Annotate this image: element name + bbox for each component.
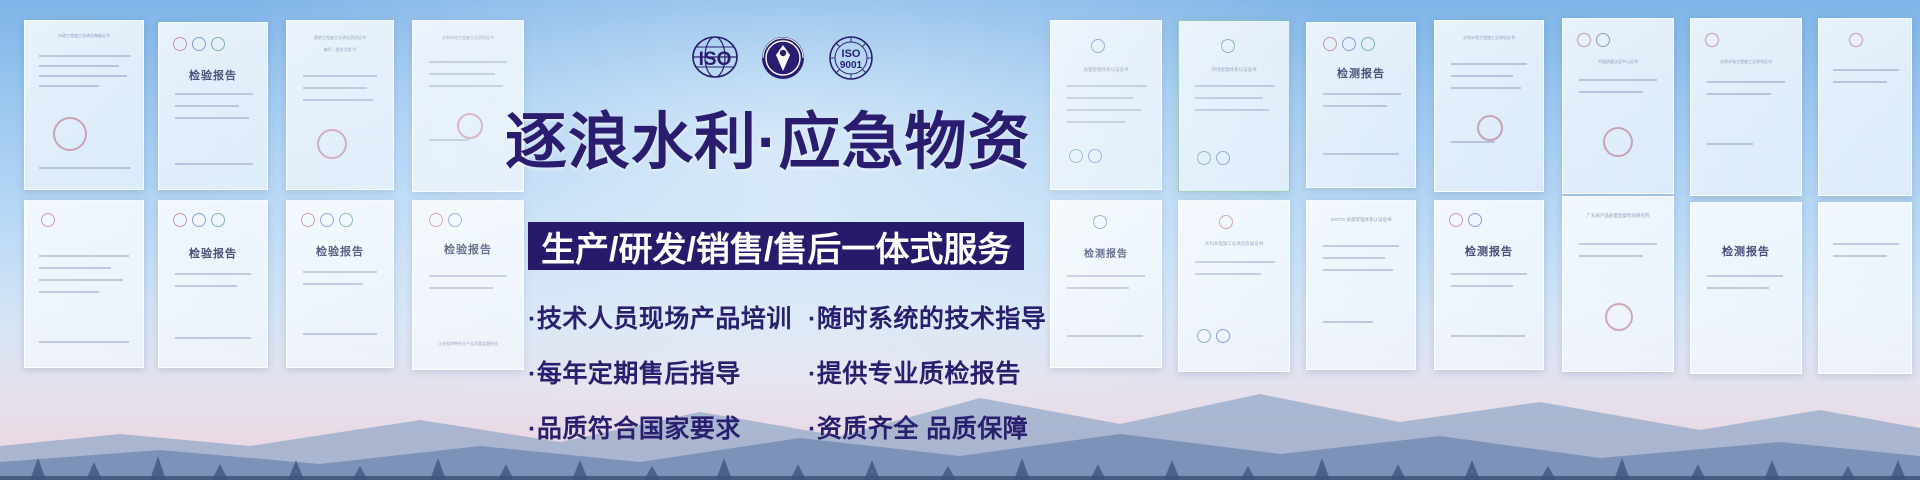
feature-item: ·每年定期售后指导 (528, 360, 741, 388)
certificate-accreditation-logos (1197, 151, 1230, 165)
svg-text:ISO: ISO (842, 48, 861, 60)
promo-banner: 市政工程施工总承包叁级证书 检验报告 建筑工程施工总承包资质证书 编号：建总字第… (0, 0, 1920, 480)
certificate-thumbnail: 检验报告 江苏省特种作业产品质量监督检验 (412, 200, 524, 370)
certificate-micro-text: 环境管理体系认证证书 (1179, 67, 1289, 73)
certificate-logo-row (1219, 215, 1233, 229)
certificate-thumbnail: 水利水电工程施工总承包证书 (1690, 18, 1802, 196)
certificate-thumbnail: 质量管理体系认证证书 (1050, 20, 1162, 190)
certificate-thumbnail: 水利水电施工总承包资质证书 (1178, 200, 1290, 372)
certificate-micro-text: 市政工程施工总承包叁级证书 (25, 33, 143, 39)
certificate-micro-text: 水利水电工程施工总承包证书 (1691, 59, 1801, 65)
certificate-thumbnail: 市政工程施工总承包叁级证书 (24, 20, 144, 190)
certificate-thumbnail (1818, 202, 1912, 374)
feature-row: ·技术人员现场产品培训 ·随时系统的技术指导 (528, 289, 1068, 344)
certificate-thumbnail: 环境管理体系认证证书 (1178, 20, 1290, 192)
certificate-micro-text: 水利水电工程施工总承包证书 (1435, 35, 1543, 41)
certificate-micro-text: 建筑工程施工总承包资质证书 (287, 35, 393, 41)
certificate-title: 检测报告 (1307, 65, 1415, 81)
certificate-micro-text: 广东省产品质量监督检验研究院 (1563, 213, 1673, 219)
certificate-thumbnail: 检测报告 (1690, 202, 1802, 374)
certificate-logo-row (301, 213, 353, 227)
certificate-title: 检测报告 (1435, 243, 1543, 259)
subtitle-text: 生产/研发/销售/售后一体式服务 (541, 222, 1011, 271)
certificate-logo-row (429, 213, 462, 227)
certificate-thumbnail: 检验报告 (158, 200, 268, 368)
certificate-thumbnail (1818, 18, 1912, 196)
certificate-thumbnail: 检测报告 (1306, 22, 1416, 188)
certificate-title: 检测报告 (1051, 245, 1161, 260)
certificate-micro-text: 水利水电工程施工总承包证书 (413, 35, 523, 41)
certificate-thumbnail: 检验报告 (158, 22, 268, 190)
feature-item: ·品质符合国家要求 (528, 415, 741, 443)
certificate-thumbnail (24, 200, 144, 368)
certificate-thumbnail: 建筑工程施工总承包资质证书 编号：建总字第 号 (286, 20, 394, 190)
certificate-thumbnail: 检测报告 (1434, 200, 1544, 370)
certificate-logo-row (1093, 215, 1107, 229)
certificate-micro-text: ISO/TS 质量管理体系认证证书 (1307, 217, 1415, 223)
certificate-title: 检验报告 (159, 67, 267, 83)
subtitle-bar: 生产/研发/销售/售后一体式服务 (528, 222, 1024, 270)
svg-text:ISO: ISO (699, 49, 732, 70)
page-title: 逐浪水利·应急物资 (505, 104, 1065, 182)
certificate-logo-row (1221, 39, 1235, 53)
certificate-logo-row (173, 37, 225, 51)
certificate-title: 检验报告 (413, 241, 523, 257)
certificate-accreditation-logos (1197, 329, 1230, 343)
iso-globe-icon: ISO ISO (688, 33, 742, 83)
certificate-logo-row (1449, 213, 1482, 227)
certificate-logo-row (1323, 37, 1375, 51)
certificate-accreditation-logos (1069, 149, 1102, 163)
iso9001-icon: ISO 9001 ISO 9001 (824, 33, 878, 83)
certificate-micro-text: 中国质量认证中心证书 (1563, 59, 1673, 65)
seal-icon (1603, 127, 1633, 157)
feature-list: ·技术人员现场产品培训 ·随时系统的技术指导 ·每年定期售后指导 ·提供专业质检… (528, 289, 1068, 454)
seal-icon (53, 117, 87, 151)
seal-icon (1477, 115, 1503, 141)
certificate-logo-row (1705, 33, 1719, 47)
certificate-logo-row (41, 213, 55, 227)
feature-item: ·资质齐全 品质保障 (808, 415, 1028, 443)
feature-row: ·每年定期售后指导 ·提供专业质检报告 (528, 344, 1068, 399)
certificate-title: 检测报告 (1691, 243, 1801, 259)
certificate-micro-text: 质量管理体系认证证书 (1051, 67, 1161, 73)
certificate-logo-row (1091, 39, 1105, 53)
seal-icon (457, 113, 483, 139)
certificate-micro-text: 水利水电施工总承包资质证书 (1179, 241, 1289, 247)
certification-badges: ISO ISO ISO (688, 30, 878, 86)
certificate-logo-row (1849, 33, 1863, 47)
certificate-thumbnail: 广东省产品质量监督检验研究院 (1562, 196, 1674, 372)
svg-text:9001: 9001 (840, 60, 863, 71)
certificate-logo-row (1577, 33, 1610, 47)
feature-item: ·随时系统的技术指导 (808, 305, 1046, 333)
seal-icon (317, 129, 347, 159)
certificate-thumbnail: 检验报告 (286, 200, 394, 368)
feature-item: ·提供专业质检报告 (808, 360, 1021, 388)
certificate-logo-row (173, 213, 225, 227)
certificate-thumbnail: ISO/TS 质量管理体系认证证书 (1306, 200, 1416, 370)
certificate-thumbnail: 水利水电工程施工总承包证书 (1434, 20, 1544, 192)
feature-item: ·技术人员现场产品培训 (528, 305, 792, 333)
certificate-micro-text-2: 编号：建总字第 号 (287, 47, 393, 53)
certificate-micro-text: 江苏省特种作业产品质量监督检验 (413, 341, 523, 347)
certificate-title: 检验报告 (287, 243, 393, 259)
certificate-title: 检验报告 (159, 245, 267, 261)
feature-row: ·品质符合国家要求 ·资质齐全 品质保障 (528, 399, 1068, 454)
certificate-thumbnail: 中国质量认证中心证书 (1562, 18, 1674, 194)
quality-seal-icon (757, 33, 809, 83)
seal-icon (1605, 303, 1633, 331)
